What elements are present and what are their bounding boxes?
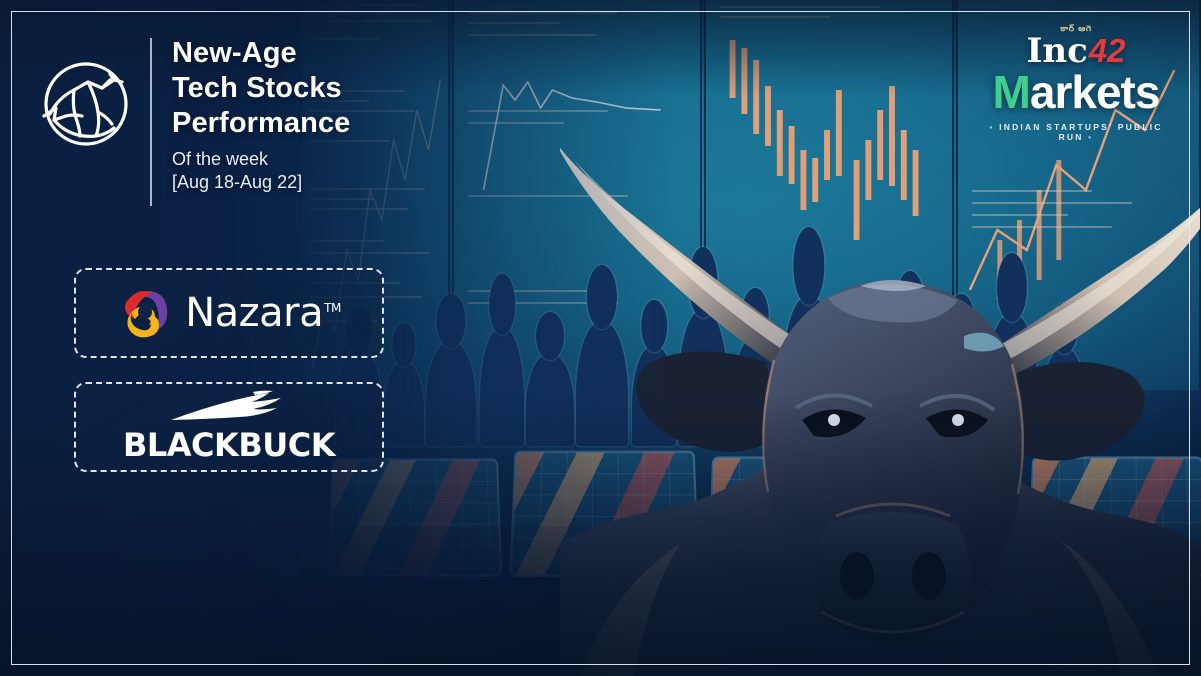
brand-tagline: ▪ INDIAN STARTUPS' PUBLIC RUN ▪ — [981, 122, 1171, 142]
inc42-markets-logo[interactable]: కార్ ఆగె Inc 42 M arkets ▪ INDIAN STARTU… — [981, 24, 1171, 142]
page-title-line-3: Performance — [172, 106, 350, 141]
stock-cards: NazaraTM BLACKBUCK — [74, 268, 384, 472]
brand-markets: M arkets — [981, 69, 1171, 115]
tagline-dot-right: ▪ — [1088, 132, 1093, 142]
nazara-trademark: TM — [324, 301, 341, 315]
brand-inc-text: Inc — [1026, 34, 1087, 68]
nazara-logo-icon — [117, 285, 173, 341]
blackbuck-wordmark: BLACKBUCK — [123, 426, 335, 464]
header-divider — [150, 38, 152, 206]
stock-card-nazara[interactable]: NazaraTM — [74, 268, 384, 358]
nazara-wordmark: NazaraTM — [185, 290, 341, 336]
blackbuck-antelope-swoosh-icon — [169, 390, 289, 424]
stock-card-blackbuck[interactable]: BLACKBUCK — [74, 382, 384, 472]
date-range: [Aug 18-Aug 22] — [172, 171, 350, 194]
tagline-text: INDIAN STARTUPS' PUBLIC RUN — [999, 122, 1162, 142]
nazara-logo: NazaraTM — [117, 285, 341, 341]
header: New-Age Tech Stocks Performance Of the w… — [36, 34, 350, 210]
brand-markets-rest: arkets — [1030, 69, 1160, 115]
subtitle: Of the week — [172, 148, 350, 171]
brand-inc42: Inc 42 — [981, 34, 1171, 68]
brand-kicker: కార్ ఆగె — [981, 25, 1171, 35]
poster-canvas: New-Age Tech Stocks Performance Of the w… — [0, 0, 1201, 676]
page-title-line-2: Tech Stocks — [172, 71, 350, 106]
blackbuck-logo: BLACKBUCK — [123, 390, 335, 464]
brand-markets-m: M — [993, 69, 1030, 115]
title-block: New-Age Tech Stocks Performance Of the w… — [172, 34, 350, 194]
brand-42-text: 42 — [1089, 34, 1126, 67]
tagline-dot-left: ▪ — [989, 122, 994, 132]
bull-in-circle-icon — [36, 54, 136, 154]
page-title-line-1: New-Age — [172, 36, 350, 71]
nazara-name: Nazara — [185, 290, 323, 336]
